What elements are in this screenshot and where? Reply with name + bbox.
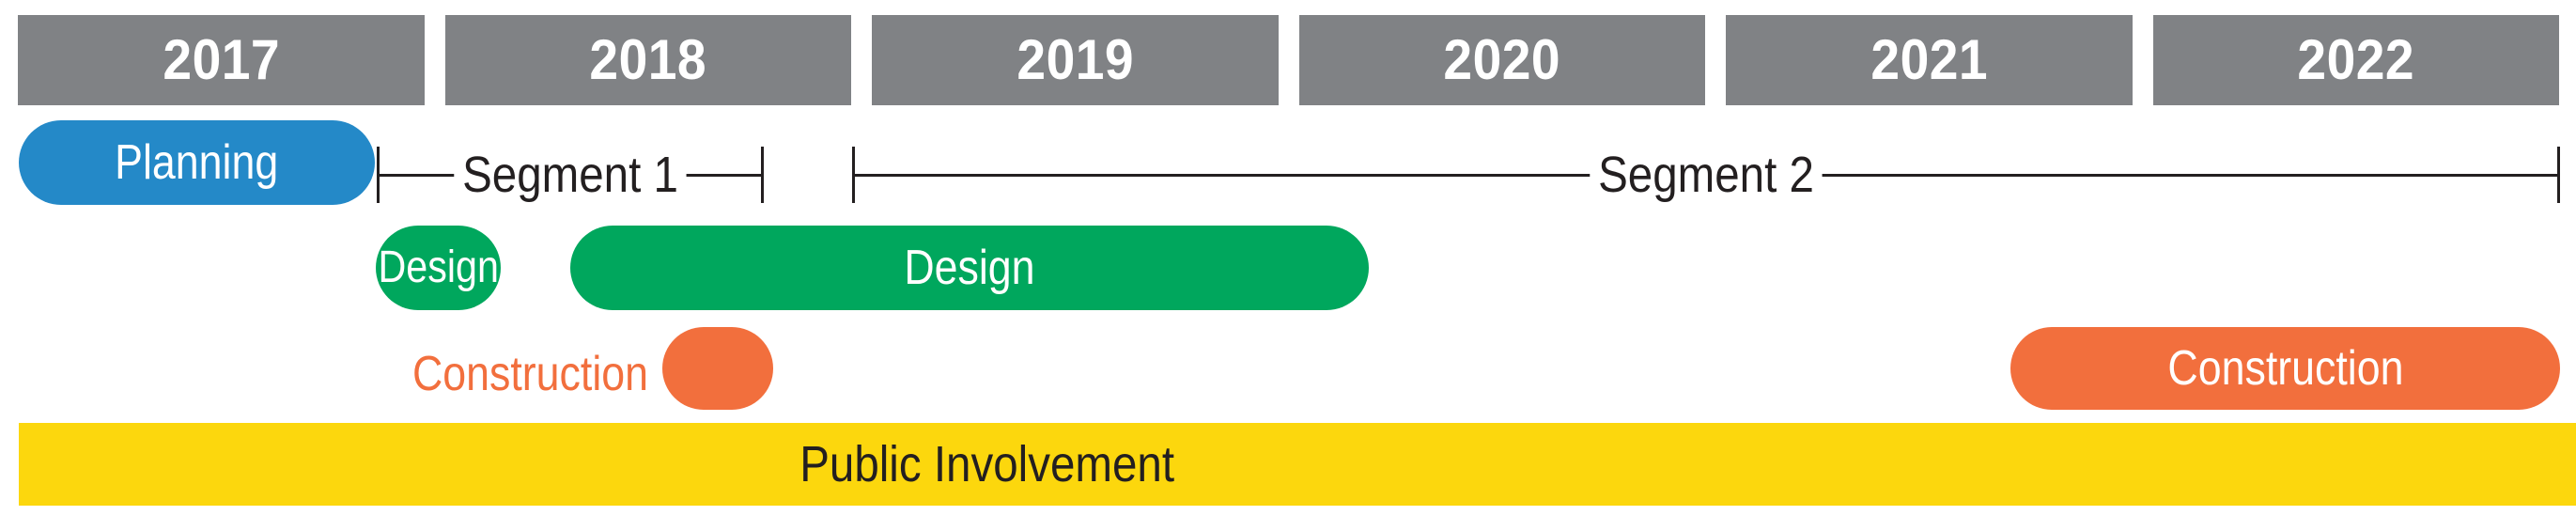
bar-construction-2: Construction	[2010, 327, 2560, 410]
bar-public-involvement-label: Public Involvement	[800, 439, 1175, 490]
year-label: 2022	[2297, 32, 2414, 88]
year-cell-2021: 2021	[1726, 15, 2133, 105]
year-cell-2017: 2017	[18, 15, 425, 105]
bar-construction-1	[662, 327, 773, 410]
year-label: 2019	[1016, 32, 1134, 88]
bar-design-2-label: Design	[904, 243, 1034, 292]
bracket-segment-2-label: Segment 2	[1590, 149, 1822, 200]
bar-construction-1-label: Construction	[357, 350, 648, 398]
bar-design-1-label: Design	[378, 245, 499, 290]
bracket-segment-1-label: Segment 1	[454, 149, 686, 200]
bar-public-involvement: Public Involvement	[19, 423, 2576, 506]
bracket-segment-2: Segment 2	[852, 147, 2560, 203]
year-cell-2018: 2018	[445, 15, 852, 105]
year-label: 2018	[589, 32, 706, 88]
bar-design-2: Design	[570, 226, 1369, 310]
bar-planning: Planning	[19, 120, 375, 205]
bar-construction-2-label: Construction	[2167, 344, 2403, 393]
bracket-segment-1: Segment 1	[377, 147, 764, 203]
bracket-tick-right	[2557, 147, 2560, 203]
bar-planning-label: Planning	[115, 138, 278, 187]
year-cell-2019: 2019	[872, 15, 1279, 105]
bracket-tick-right	[761, 147, 764, 203]
year-label: 2017	[163, 32, 280, 88]
year-cell-2020: 2020	[1299, 15, 1706, 105]
year-label: 2020	[1443, 32, 1560, 88]
bar-design-1: Design	[376, 226, 501, 310]
year-label: 2021	[1870, 32, 1988, 88]
year-header-row: 2017 2018 2019 2020 2021 2022	[18, 15, 2559, 105]
year-cell-2022: 2022	[2153, 15, 2560, 105]
project-timeline-chart: 2017 2018 2019 2020 2021 2022 Planning S…	[0, 0, 2576, 531]
